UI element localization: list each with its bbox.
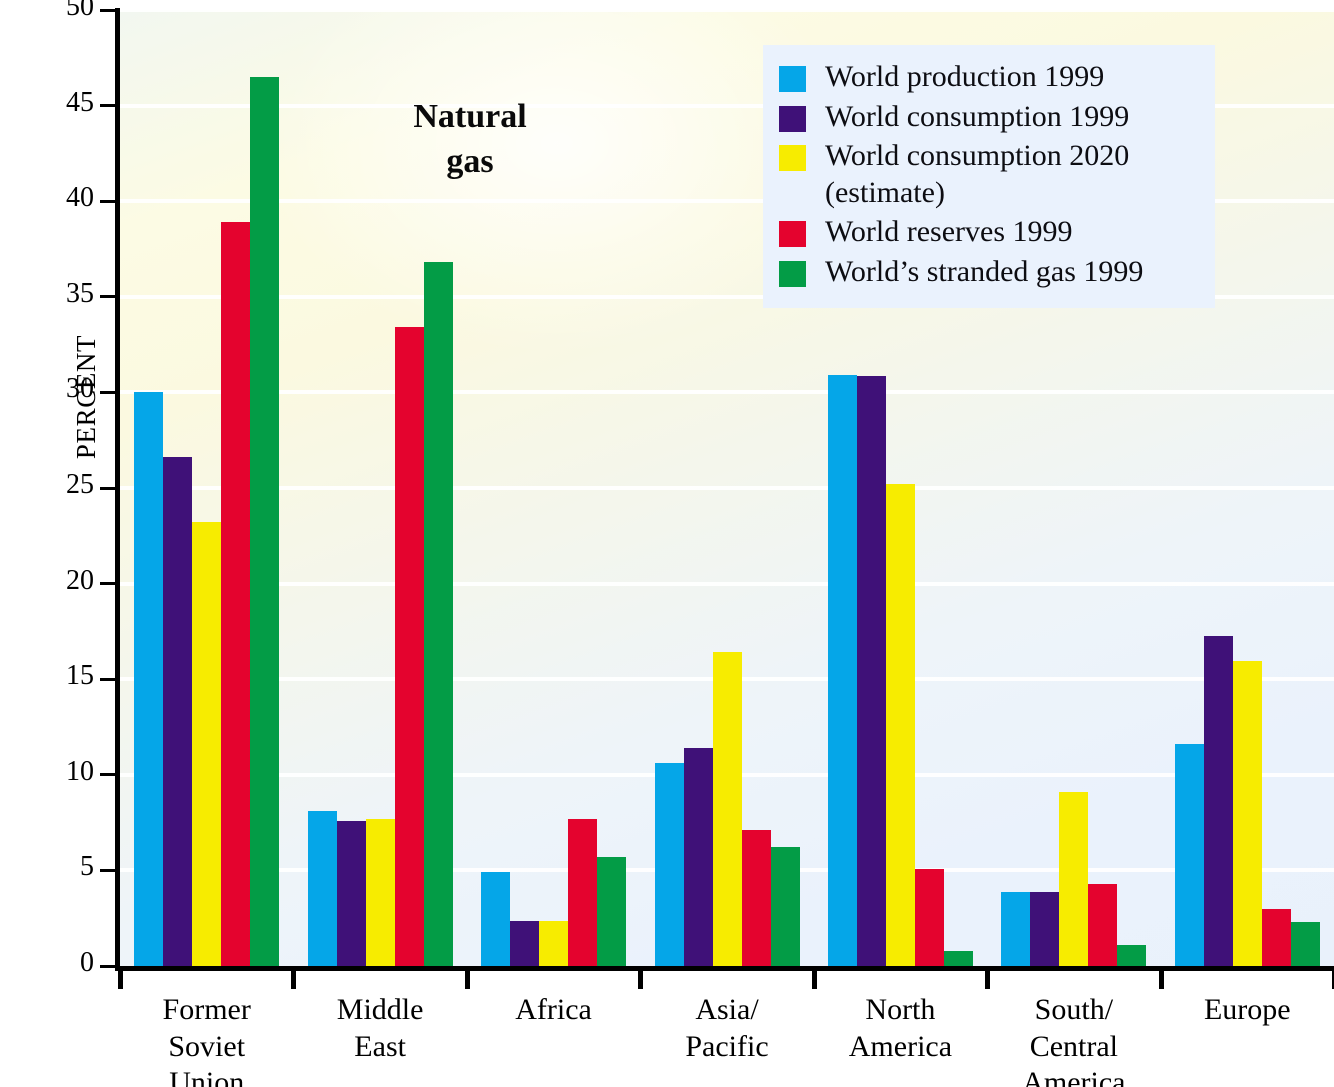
legend-swatch-icon [779,261,806,287]
bar [337,821,366,966]
chart-title: Natural gas [340,95,600,185]
bar [424,262,453,966]
y-tick-label: 45 [0,89,94,117]
x-tick-mark [985,969,990,989]
x-category-label: North America [814,992,987,1065]
y-tick-mark [100,582,116,585]
x-tick-mark [1159,969,1164,989]
bar [1233,661,1262,966]
bar [771,847,800,967]
bar [1059,792,1088,966]
x-axis-line [115,966,1334,971]
bar [1291,922,1320,966]
x-category-label: South/ Central America [987,992,1160,1087]
bar [655,763,684,966]
y-tick-label: 10 [0,758,94,786]
bar [1001,892,1030,966]
legend-item[interactable]: World production 1999 [779,59,1205,96]
bar [539,921,568,966]
y-tick-mark [100,678,116,681]
y-tick-label: 0 [0,949,94,977]
bar [221,222,250,966]
bar [684,748,713,966]
legend-item[interactable]: World consumption 1999 [779,99,1205,136]
x-tick-mark [812,969,817,989]
x-category-label: Middle East [293,992,466,1065]
legend-label: World’s stranded gas 1999 [825,254,1143,291]
x-tick-mark [118,969,123,989]
y-tick-mark [100,9,116,12]
legend-label: World reserves 1999 [825,214,1073,251]
bar [1030,892,1059,966]
y-tick-mark [100,391,116,394]
y-tick-mark [100,200,116,203]
y-tick-label: 40 [0,184,94,212]
bar [713,652,742,966]
gridline [120,390,1334,394]
bar [192,522,221,966]
bar [828,375,857,966]
y-tick-label: 5 [0,853,94,881]
gridline [120,486,1334,490]
bar [1204,636,1233,966]
bar [597,857,626,966]
y-tick-mark [100,104,116,107]
chart-legend: World production 1999World consumption 1… [763,45,1215,308]
bar [568,819,597,966]
x-category-label: Asia/ Pacific [640,992,813,1065]
y-tick-label: 25 [0,471,94,499]
legend-swatch-icon [779,145,806,171]
gridline [120,582,1334,586]
bar [944,951,973,966]
y-tick-mark [100,773,116,776]
bar [886,484,915,966]
y-tick-label: 30 [0,375,94,403]
legend-swatch-icon [779,106,806,132]
gridline [120,10,1334,12]
legend-label: World consumption 2020 (estimate) [825,138,1129,211]
bar [481,872,510,966]
y-tick-mark [100,487,116,490]
bar [1175,744,1204,966]
legend-swatch-icon [779,66,806,92]
y-tick-label: 20 [0,567,94,595]
bar [366,819,395,966]
bar [1088,884,1117,966]
bar [163,457,192,966]
x-tick-mark [465,969,470,989]
bar [250,77,279,966]
bar [134,392,163,966]
y-tick-mark [100,965,116,968]
bar [857,376,886,966]
bar [915,869,944,967]
bar [308,811,337,966]
x-tick-mark [638,969,643,989]
bar [395,327,424,966]
y-tick-mark [100,295,116,298]
bar [742,830,771,966]
x-category-label: Africa [467,992,640,1029]
legend-label: World production 1999 [825,59,1104,96]
bar [510,921,539,966]
legend-item[interactable]: World consumption 2020 (estimate) [779,138,1205,211]
chart-figure: PERCENT 05101520253035404550 Former Sovi… [0,0,1334,1087]
legend-item[interactable]: World’s stranded gas 1999 [779,254,1205,291]
y-tick-mark [100,869,116,872]
bar [1117,945,1146,966]
y-tick-label: 35 [0,280,94,308]
legend-item[interactable]: World reserves 1999 [779,214,1205,251]
x-category-label: Europe [1161,992,1334,1029]
legend-swatch-icon [779,221,806,247]
x-tick-mark [291,969,296,989]
bar [1262,909,1291,966]
legend-label: World consumption 1999 [825,99,1129,136]
y-tick-label: 15 [0,662,94,690]
y-tick-label: 50 [0,0,94,21]
x-category-label: Former Soviet Union [120,992,293,1087]
